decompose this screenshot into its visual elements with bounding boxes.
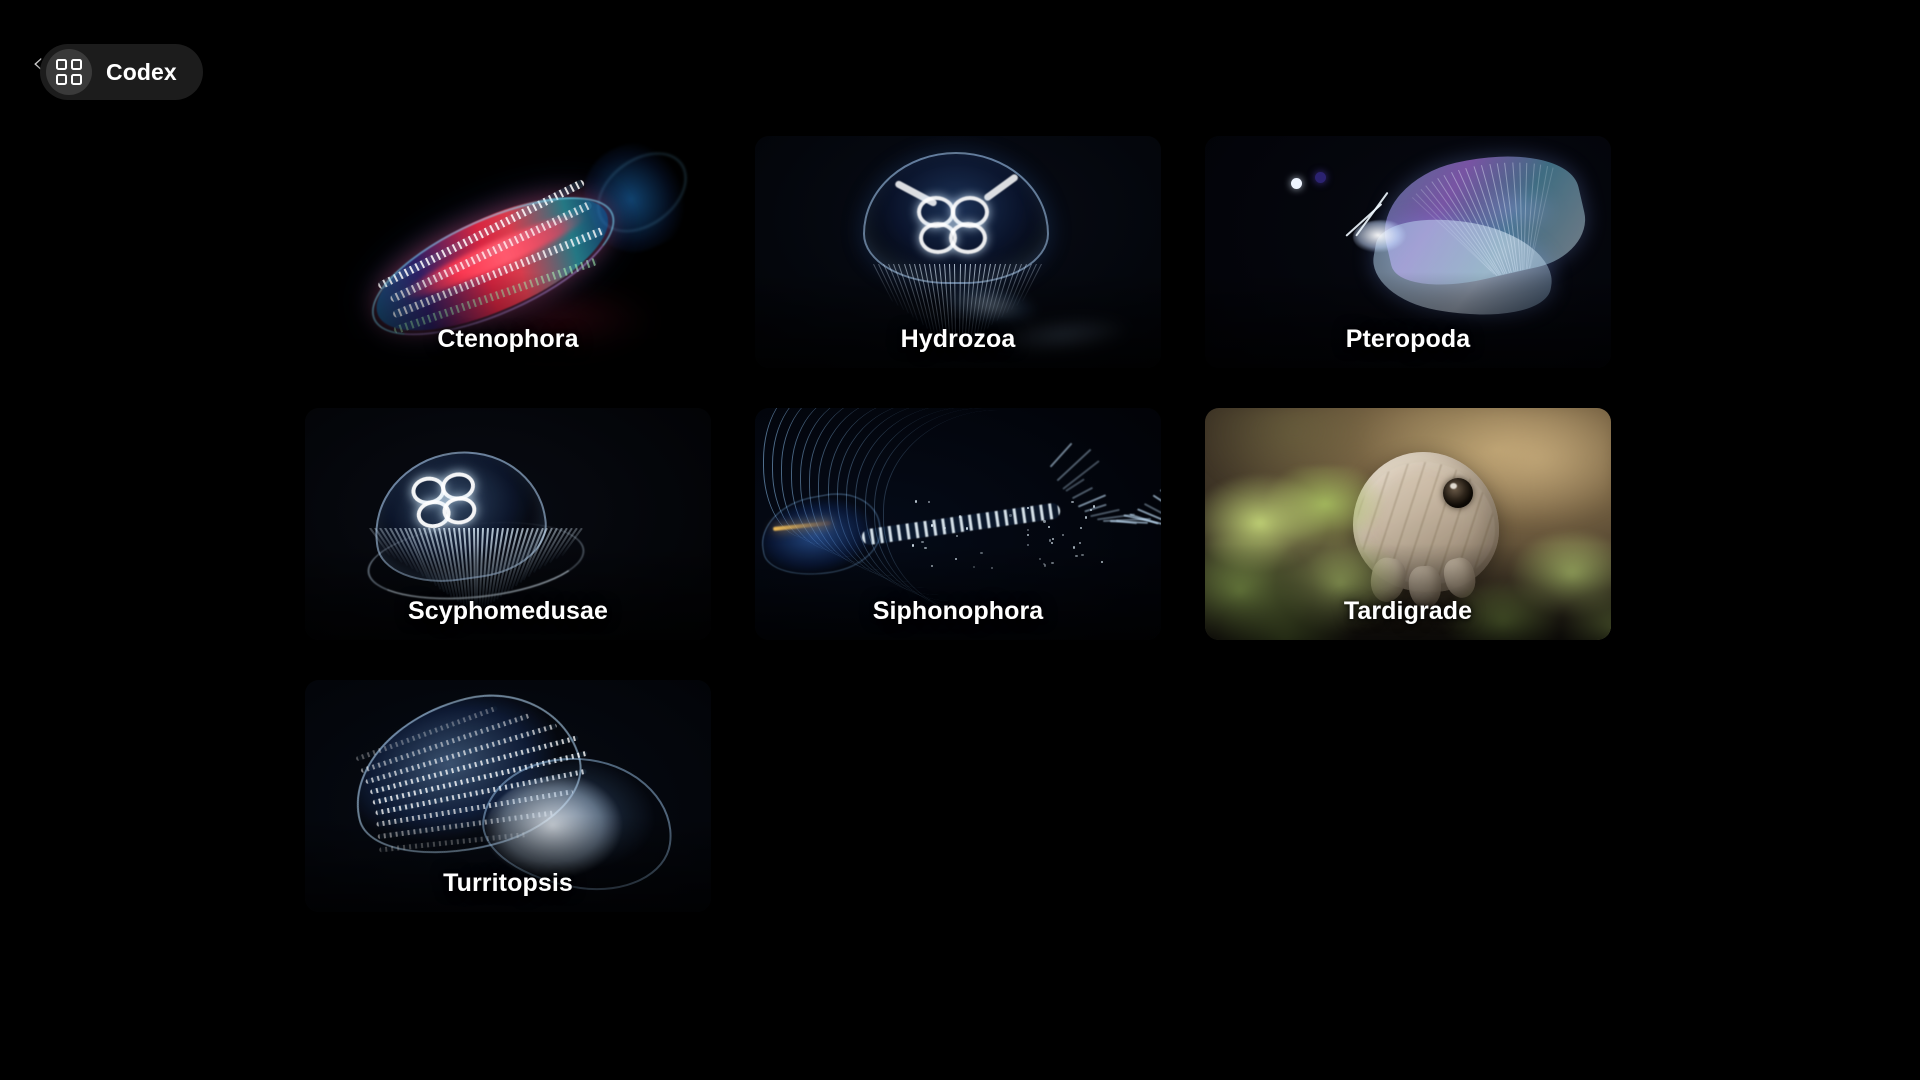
card-art-sea-butterfly — [1205, 136, 1611, 368]
card-art-siphonophore-colony — [755, 408, 1161, 640]
gallery-card-ctenophora[interactable]: Ctenophora — [305, 136, 711, 368]
card-art-moon-jelly — [755, 136, 1161, 368]
codex-gallery-app: ‹ All ctenophora hydrozoa pteropoda scyp… — [0, 0, 1920, 1080]
card-art-immortal-jelly — [305, 680, 711, 912]
codex-badge[interactable]: Codex — [40, 44, 203, 100]
gallery-card-siphonophora[interactable]: Siphonophora — [755, 408, 1161, 640]
card-art-tardigrade-on-moss — [1205, 408, 1611, 640]
gallery-card-scyphomedusae[interactable]: Scyphomedusae — [305, 408, 711, 640]
gallery-card-pteropoda[interactable]: Pteropoda — [1205, 136, 1611, 368]
top-bar: ‹ — [0, 0, 1920, 128]
gallery-grid: Ctenophora Hydrozoa — [0, 128, 1920, 1080]
codex-badge-label: Codex — [106, 59, 177, 86]
card-art-comb-jelly — [305, 136, 711, 368]
gallery-card-tardigrade[interactable]: Tardigrade — [1205, 408, 1611, 640]
gallery-card-hydrozoa[interactable]: Hydrozoa — [755, 136, 1161, 368]
gallery-card-turritopsis[interactable]: Turritopsis — [305, 680, 711, 912]
grid-2x2-icon — [46, 49, 92, 95]
card-art-scyphozoan-jelly — [305, 408, 711, 640]
